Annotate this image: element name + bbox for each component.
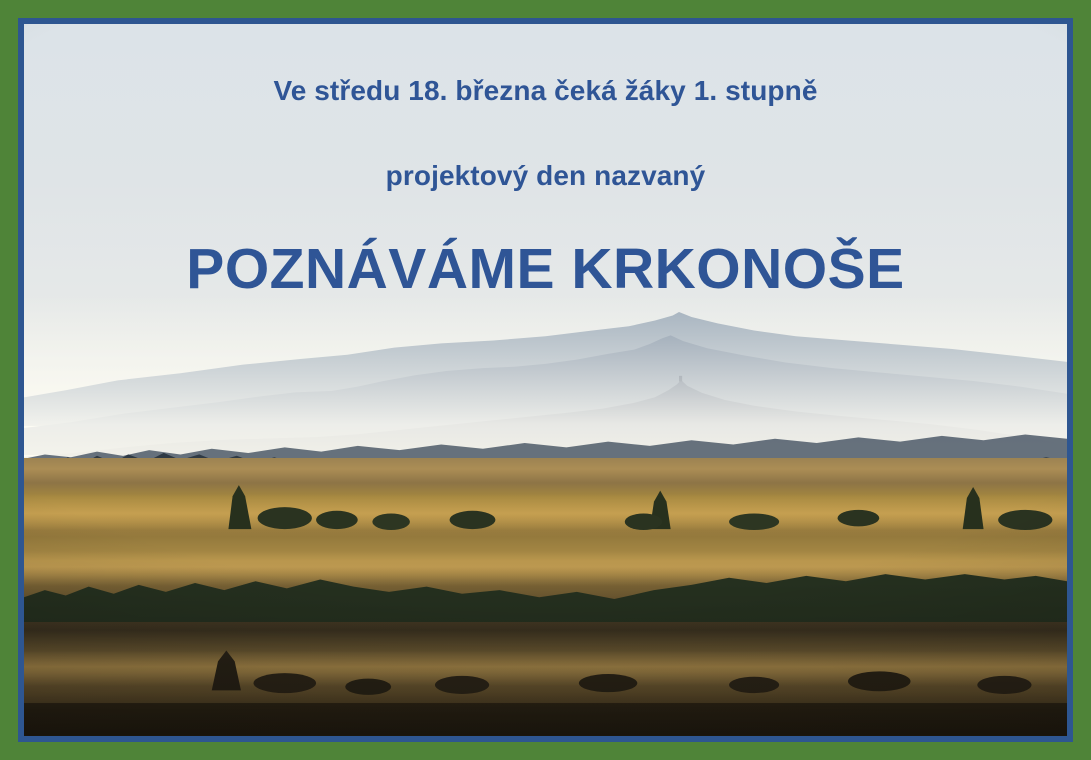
foreground-treeline-icon (24, 551, 1067, 622)
foreground-shrubs-icon (24, 636, 1067, 736)
poster-inner-border: Ve středu 18. března čeká žáky 1. stupně… (18, 18, 1073, 742)
landscape-photo (24, 24, 1067, 736)
foreground-trees-icon (24, 465, 1067, 529)
poster-frame: Ve středu 18. března čeká žáky 1. stupně… (0, 0, 1091, 760)
